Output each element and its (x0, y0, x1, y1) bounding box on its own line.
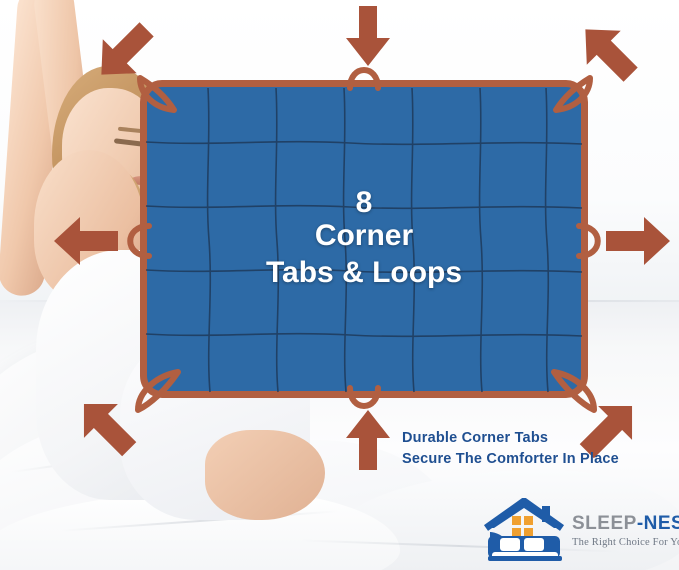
caption-line-1: Durable Corner Tabs (402, 428, 672, 449)
edge-loop-left (116, 216, 152, 266)
brand-tagline: The Right Choice For You (572, 537, 676, 548)
comforter-stitch-grid (140, 80, 588, 398)
brand-logo-text: SLEEP-NEST The Right Choice For You (572, 514, 676, 548)
arrow-right (604, 212, 674, 270)
comforter-illustration (140, 80, 588, 398)
arrow-bottom-left (70, 390, 146, 466)
brand-logo: SLEEP-NEST The Right Choice For You (478, 498, 674, 564)
caption-block: Durable Corner Tabs Secure The Comforter… (402, 428, 672, 470)
arrow-top-right (572, 16, 644, 88)
arrow-top-left (88, 16, 160, 88)
product-feature-image: 8 Corner Tabs & Loops (0, 0, 679, 570)
arrow-left (50, 212, 120, 270)
arrow-top-center (340, 4, 396, 70)
brand-name-part-2: -NEST (637, 513, 679, 534)
arrow-bottom-center (340, 406, 396, 472)
brand-name: SLEEP-NEST (572, 514, 676, 533)
sleep-nest-logo-icon (478, 498, 574, 562)
caption-line-2: Secure The Comforter In Place (402, 449, 672, 470)
brand-name-part-1: SLEEP (572, 513, 637, 534)
